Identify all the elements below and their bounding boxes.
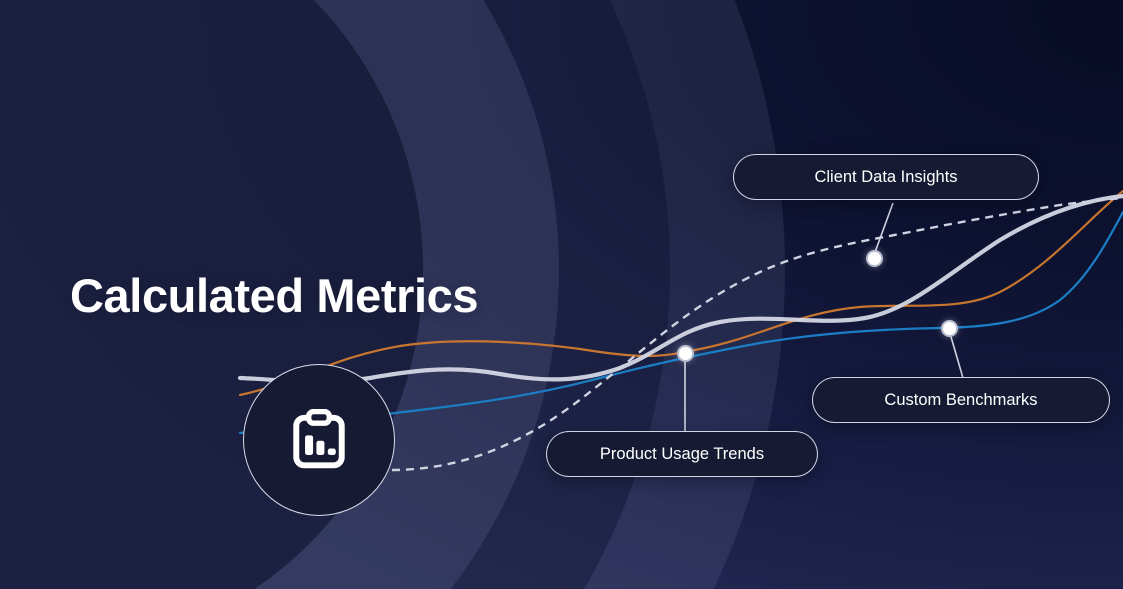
leader-line-custom [949,330,963,378]
callout-label: Client Data Insights [814,168,957,187]
marker-dot-product[interactable] [677,345,694,362]
hero-banner: Calculated Metrics Client Data Insights … [0,0,1123,589]
callout-product-usage-trends[interactable]: Product Usage Trends [546,431,818,477]
callout-label: Custom Benchmarks [884,391,1037,410]
callout-label: Product Usage Trends [600,445,764,464]
page-title: Calculated Metrics [70,268,478,323]
callout-client-data-insights[interactable]: Client Data Insights [733,154,1039,200]
clipboard-bar-chart-icon [288,409,350,471]
marker-dot-custom[interactable] [941,320,958,337]
metrics-badge [243,364,395,516]
leader-line-client [874,203,893,255]
marker-dot-client[interactable] [866,250,883,267]
callout-custom-benchmarks[interactable]: Custom Benchmarks [812,377,1110,423]
